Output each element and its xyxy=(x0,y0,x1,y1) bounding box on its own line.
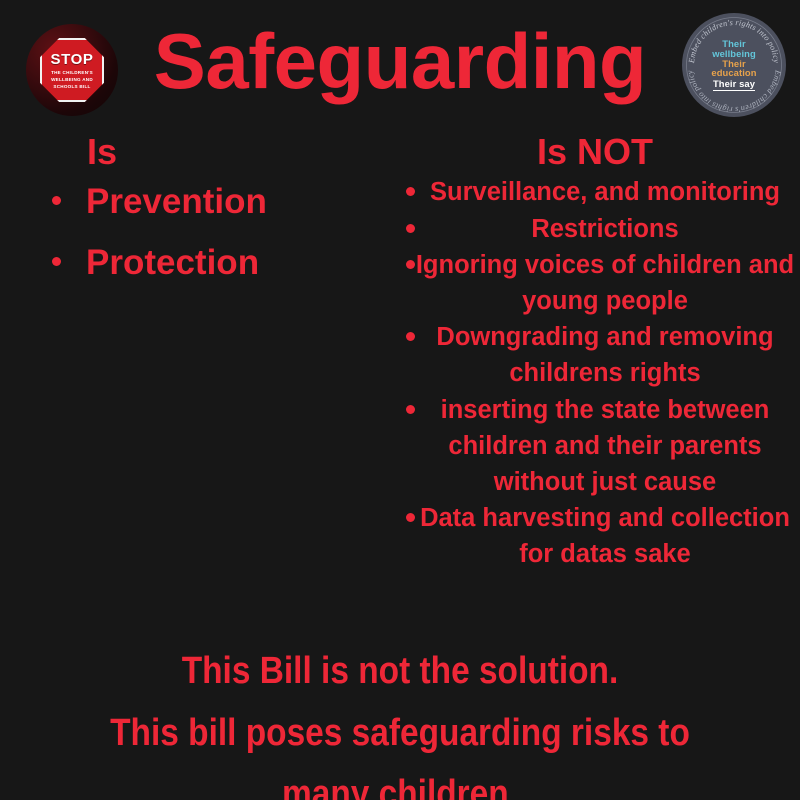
list-item: Restrictions xyxy=(390,211,800,247)
comparison-columns: Is Prevention Protection Is NOT Surveill… xyxy=(0,131,800,573)
page-title: Safeguarding xyxy=(0,22,800,100)
list-item: Data harvesting and collection for datas… xyxy=(390,500,800,572)
bottom-statement-line-3: many children. xyxy=(83,764,717,800)
list-item: Prevention xyxy=(8,172,390,232)
safeguarding-poster: STOP THE CHILDREN'S WELLBEING AND SCHOOL… xyxy=(0,0,800,800)
list-item: Protection xyxy=(8,233,390,293)
bottom-statement-line-1: This Bill is not the solution. xyxy=(83,641,717,703)
bottom-statement: This Bill is not the solution. This bill… xyxy=(83,641,717,800)
list-item: Downgrading and removing childrens right… xyxy=(390,319,800,391)
column-is-heading: Is xyxy=(22,131,182,172)
bottom-statement-line-2: This bill poses safeguarding risks to xyxy=(83,703,717,765)
list-item: Ignoring voices of children and young pe… xyxy=(390,247,800,319)
is-list: Prevention Protection xyxy=(8,172,390,292)
is-not-list: Surveillance, and monitoring Restriction… xyxy=(390,174,800,572)
column-is: Is Prevention Protection xyxy=(0,131,390,573)
list-item: Surveillance, and monitoring xyxy=(390,174,800,210)
column-is-not-heading: Is NOT xyxy=(390,131,800,172)
list-item: inserting the state between children and… xyxy=(390,392,800,501)
column-is-not: Is NOT Surveillance, and monitoring Rest… xyxy=(390,131,800,573)
